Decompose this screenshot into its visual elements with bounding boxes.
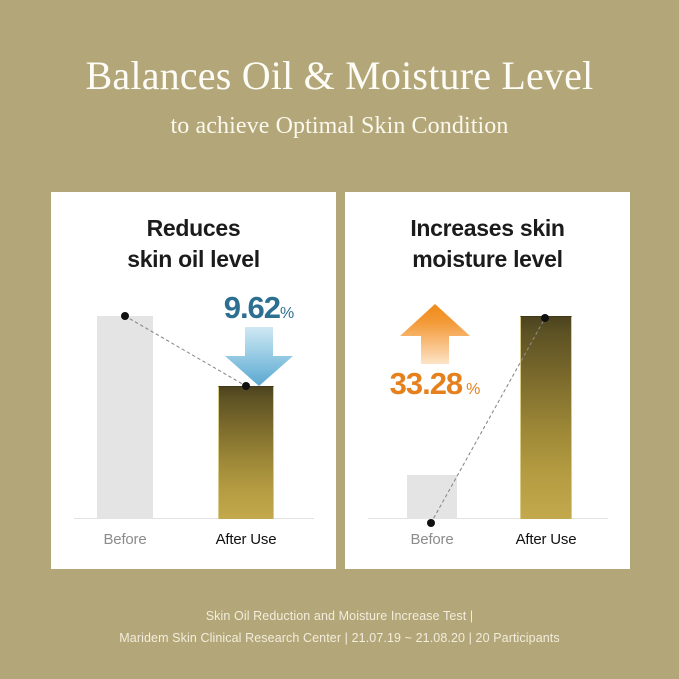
caption-line-1: Skin Oil Reduction and Moisture Increase…	[0, 606, 679, 628]
tick-label-after-skin-moisture: After Use	[506, 531, 586, 548]
percent-readout-skin-moisture: 33.28%	[361, 368, 509, 399]
bar-after-skin-oil	[218, 386, 274, 519]
callout-decrease-skin-oil: 9.62%	[199, 292, 319, 388]
page-subtitle: to achieve Optimal Skin Condition	[0, 113, 679, 140]
percent-sign-skin-oil: %	[280, 305, 294, 322]
tick-label-before-skin-moisture: Before	[404, 531, 460, 548]
arrow-up-icon	[397, 302, 473, 366]
panel-skin-oil: Reduces skin oil level Before After Use …	[51, 192, 336, 569]
percent-sign-skin-moisture: %	[466, 381, 480, 398]
marker-dot-after-skin-moisture	[541, 314, 549, 322]
marker-dot-before-skin-oil	[121, 312, 129, 320]
panel-skin-moisture: Increases skin moisture level Before Aft…	[345, 192, 630, 569]
arrow-down-icon	[222, 326, 296, 388]
marker-dot-before-skin-moisture	[427, 519, 435, 527]
bar-before-skin-oil	[97, 316, 153, 519]
callout-increase-skin-moisture: 33.28%	[361, 302, 509, 399]
bar-after-skin-moisture	[520, 316, 572, 519]
percent-value-skin-oil: 9.62	[224, 290, 280, 325]
caption-line-2: Maridem Skin Clinical Research Center | …	[0, 628, 679, 650]
tick-label-after-skin-oil: After Use	[206, 531, 286, 548]
tick-label-before-skin-oil: Before	[97, 531, 153, 548]
comparison-panels: Reduces skin oil level Before After Use …	[51, 192, 630, 569]
study-caption: Skin Oil Reduction and Moisture Increase…	[0, 606, 679, 650]
percent-value-skin-moisture: 33.28	[390, 366, 463, 401]
bar-before-skin-moisture	[407, 475, 457, 519]
chart-baseline-axis	[368, 518, 608, 519]
page-title: Balances Oil & Moisture Level	[0, 54, 679, 99]
percent-readout-skin-oil: 9.62%	[199, 292, 319, 323]
header: Balances Oil & Moisture Level to achieve…	[0, 0, 679, 140]
